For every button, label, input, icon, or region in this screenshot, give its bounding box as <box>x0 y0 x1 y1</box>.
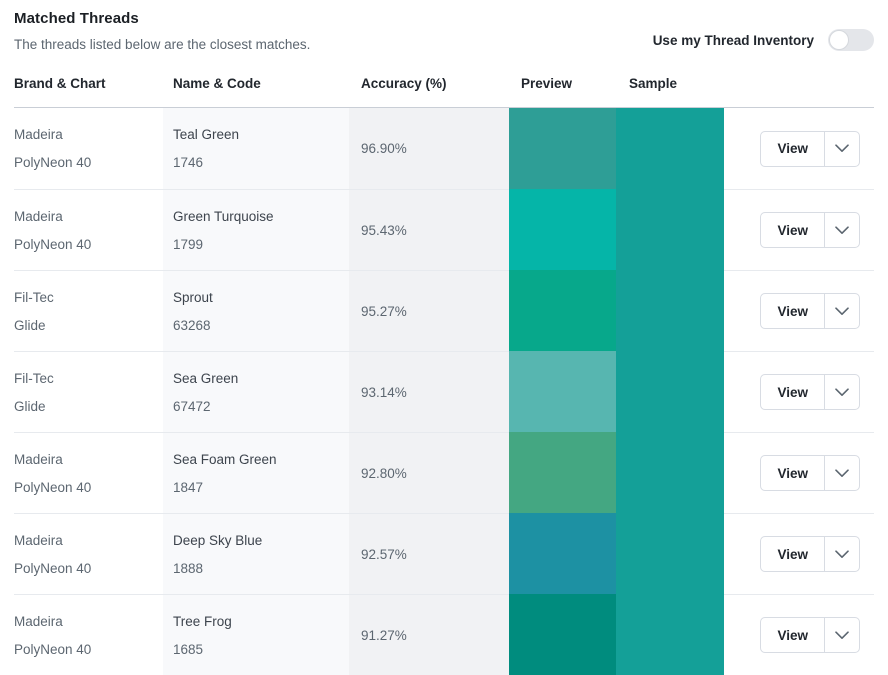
view-button[interactable]: View <box>761 618 824 652</box>
preview-swatch <box>509 594 616 675</box>
table-row-1[interactable]: Madeira PolyNeon 40 Green Turquoise 1799… <box>14 189 874 270</box>
cell-actions: View <box>724 189 874 270</box>
brand-chart: PolyNeon 40 <box>14 480 163 495</box>
view-split-button[interactable]: View <box>760 131 860 167</box>
brand-name: Madeira <box>14 209 163 224</box>
cell-name: Tree Frog 1685 <box>163 594 349 675</box>
view-split-button[interactable]: View <box>760 212 860 248</box>
chevron-down-icon[interactable] <box>825 375 859 409</box>
view-button[interactable]: View <box>761 375 824 409</box>
sample-swatch <box>616 594 724 675</box>
brand-name: Madeira <box>14 452 163 467</box>
column-header-sample: Sample <box>616 74 724 91</box>
thread-name: Sprout <box>173 290 349 305</box>
view-button[interactable]: View <box>761 537 824 571</box>
matched-threads-table: Brand & Chart Name & Code Accuracy (%) P… <box>14 74 874 675</box>
chevron-down-icon[interactable] <box>825 618 859 652</box>
thread-code: 1685 <box>173 642 349 657</box>
brand-chart: PolyNeon 40 <box>14 237 163 252</box>
cell-accuracy: 95.43% <box>349 189 509 270</box>
column-header-name: Name & Code <box>163 74 349 91</box>
thread-code: 67472 <box>173 399 349 414</box>
brand-name: Fil-Tec <box>14 290 163 305</box>
cell-name: Sea Green 67472 <box>163 351 349 432</box>
column-header-actions <box>724 74 874 76</box>
thread-name: Teal Green <box>173 127 349 142</box>
cell-brand: Madeira PolyNeon 40 <box>14 594 163 675</box>
brand-chart: PolyNeon 40 <box>14 155 163 170</box>
brand-chart: Glide <box>14 399 163 414</box>
brand-name: Madeira <box>14 127 163 142</box>
matched-threads-panel: Matched Threads The threads listed below… <box>0 0 888 675</box>
cell-brand: Madeira PolyNeon 40 <box>14 432 163 513</box>
view-split-button[interactable]: View <box>760 536 860 572</box>
preview-swatch <box>509 270 616 351</box>
brand-name: Madeira <box>14 614 163 629</box>
table-row-4[interactable]: Madeira PolyNeon 40 Sea Foam Green 1847 … <box>14 432 874 513</box>
accuracy-value: 92.80% <box>361 466 509 481</box>
thread-code: 1847 <box>173 480 349 495</box>
cell-name: Teal Green 1746 <box>163 108 349 189</box>
cell-name: Deep Sky Blue 1888 <box>163 513 349 594</box>
sample-swatch <box>616 270 724 351</box>
table-row-3[interactable]: Fil-Tec Glide Sea Green 67472 93.14% Vie… <box>14 351 874 432</box>
column-header-accuracy: Accuracy (%) <box>349 74 509 91</box>
chevron-down-icon[interactable] <box>825 456 859 490</box>
cell-name: Sea Foam Green 1847 <box>163 432 349 513</box>
column-header-brand: Brand & Chart <box>14 74 163 91</box>
brand-name: Fil-Tec <box>14 371 163 386</box>
cell-brand: Fil-Tec Glide <box>14 270 163 351</box>
cell-actions: View <box>724 351 874 432</box>
cell-brand: Madeira PolyNeon 40 <box>14 108 163 189</box>
thread-name: Deep Sky Blue <box>173 533 349 548</box>
thread-code: 1888 <box>173 561 349 576</box>
cell-actions: View <box>724 513 874 594</box>
cell-brand: Madeira PolyNeon 40 <box>14 513 163 594</box>
view-button[interactable]: View <box>761 456 824 490</box>
cell-actions: View <box>724 432 874 513</box>
preview-swatch <box>509 189 616 270</box>
inventory-toggle-label: Use my Thread Inventory <box>653 33 814 48</box>
preview-swatch <box>509 432 616 513</box>
cell-actions: View <box>724 108 874 189</box>
cell-accuracy: 96.90% <box>349 108 509 189</box>
accuracy-value: 95.27% <box>361 304 509 319</box>
preview-swatch <box>509 513 616 594</box>
cell-accuracy: 95.27% <box>349 270 509 351</box>
table-body: Madeira PolyNeon 40 Teal Green 1746 96.9… <box>14 108 874 675</box>
accuracy-value: 91.27% <box>361 628 509 643</box>
cell-accuracy: 93.14% <box>349 351 509 432</box>
view-button[interactable]: View <box>761 213 824 247</box>
column-header-preview: Preview <box>509 74 616 91</box>
thread-name: Sea Green <box>173 371 349 386</box>
view-split-button[interactable]: View <box>760 374 860 410</box>
cell-accuracy: 92.80% <box>349 432 509 513</box>
table-row-5[interactable]: Madeira PolyNeon 40 Deep Sky Blue 1888 9… <box>14 513 874 594</box>
brand-chart: PolyNeon 40 <box>14 642 163 657</box>
thread-name: Green Turquoise <box>173 209 349 224</box>
accuracy-value: 92.57% <box>361 547 509 562</box>
brand-name: Madeira <box>14 533 163 548</box>
thread-code: 1799 <box>173 237 349 252</box>
cell-accuracy: 91.27% <box>349 594 509 675</box>
preview-swatch <box>509 351 616 432</box>
view-split-button[interactable]: View <box>760 293 860 329</box>
table-row-0[interactable]: Madeira PolyNeon 40 Teal Green 1746 96.9… <box>14 108 874 189</box>
chevron-down-icon[interactable] <box>825 213 859 247</box>
view-split-button[interactable]: View <box>760 455 860 491</box>
table-header-row: Brand & Chart Name & Code Accuracy (%) P… <box>14 74 874 108</box>
thread-code: 1746 <box>173 155 349 170</box>
thread-code: 63268 <box>173 318 349 333</box>
chevron-down-icon[interactable] <box>825 294 859 328</box>
table-row-6[interactable]: Madeira PolyNeon 40 Tree Frog 1685 91.27… <box>14 594 874 675</box>
view-button[interactable]: View <box>761 132 824 166</box>
toggle-knob <box>829 30 849 50</box>
accuracy-value: 95.43% <box>361 223 509 238</box>
inventory-toggle-row: Use my Thread Inventory <box>653 29 874 51</box>
sample-swatch <box>616 432 724 513</box>
sample-swatch <box>616 513 724 594</box>
cell-accuracy: 92.57% <box>349 513 509 594</box>
view-split-button[interactable]: View <box>760 617 860 653</box>
cell-name: Green Turquoise 1799 <box>163 189 349 270</box>
accuracy-value: 93.14% <box>361 385 509 400</box>
sample-swatch <box>616 351 724 432</box>
sample-swatch <box>616 108 724 189</box>
chevron-down-icon[interactable] <box>825 537 859 571</box>
accuracy-value: 96.90% <box>361 141 509 156</box>
chevron-down-icon[interactable] <box>825 132 859 166</box>
use-my-thread-inventory-toggle[interactable] <box>828 29 874 51</box>
cell-actions: View <box>724 594 874 675</box>
sample-swatch <box>616 189 724 270</box>
brand-chart: PolyNeon 40 <box>14 561 163 576</box>
view-button[interactable]: View <box>761 294 824 328</box>
thread-name: Sea Foam Green <box>173 452 349 467</box>
preview-swatch <box>509 108 616 189</box>
cell-brand: Fil-Tec Glide <box>14 351 163 432</box>
cell-brand: Madeira PolyNeon 40 <box>14 189 163 270</box>
page-title: Matched Threads <box>14 10 874 27</box>
brand-chart: Glide <box>14 318 163 333</box>
table-row-2[interactable]: Fil-Tec Glide Sprout 63268 95.27% View <box>14 270 874 351</box>
cell-actions: View <box>724 270 874 351</box>
thread-name: Tree Frog <box>173 614 349 629</box>
cell-name: Sprout 63268 <box>163 270 349 351</box>
